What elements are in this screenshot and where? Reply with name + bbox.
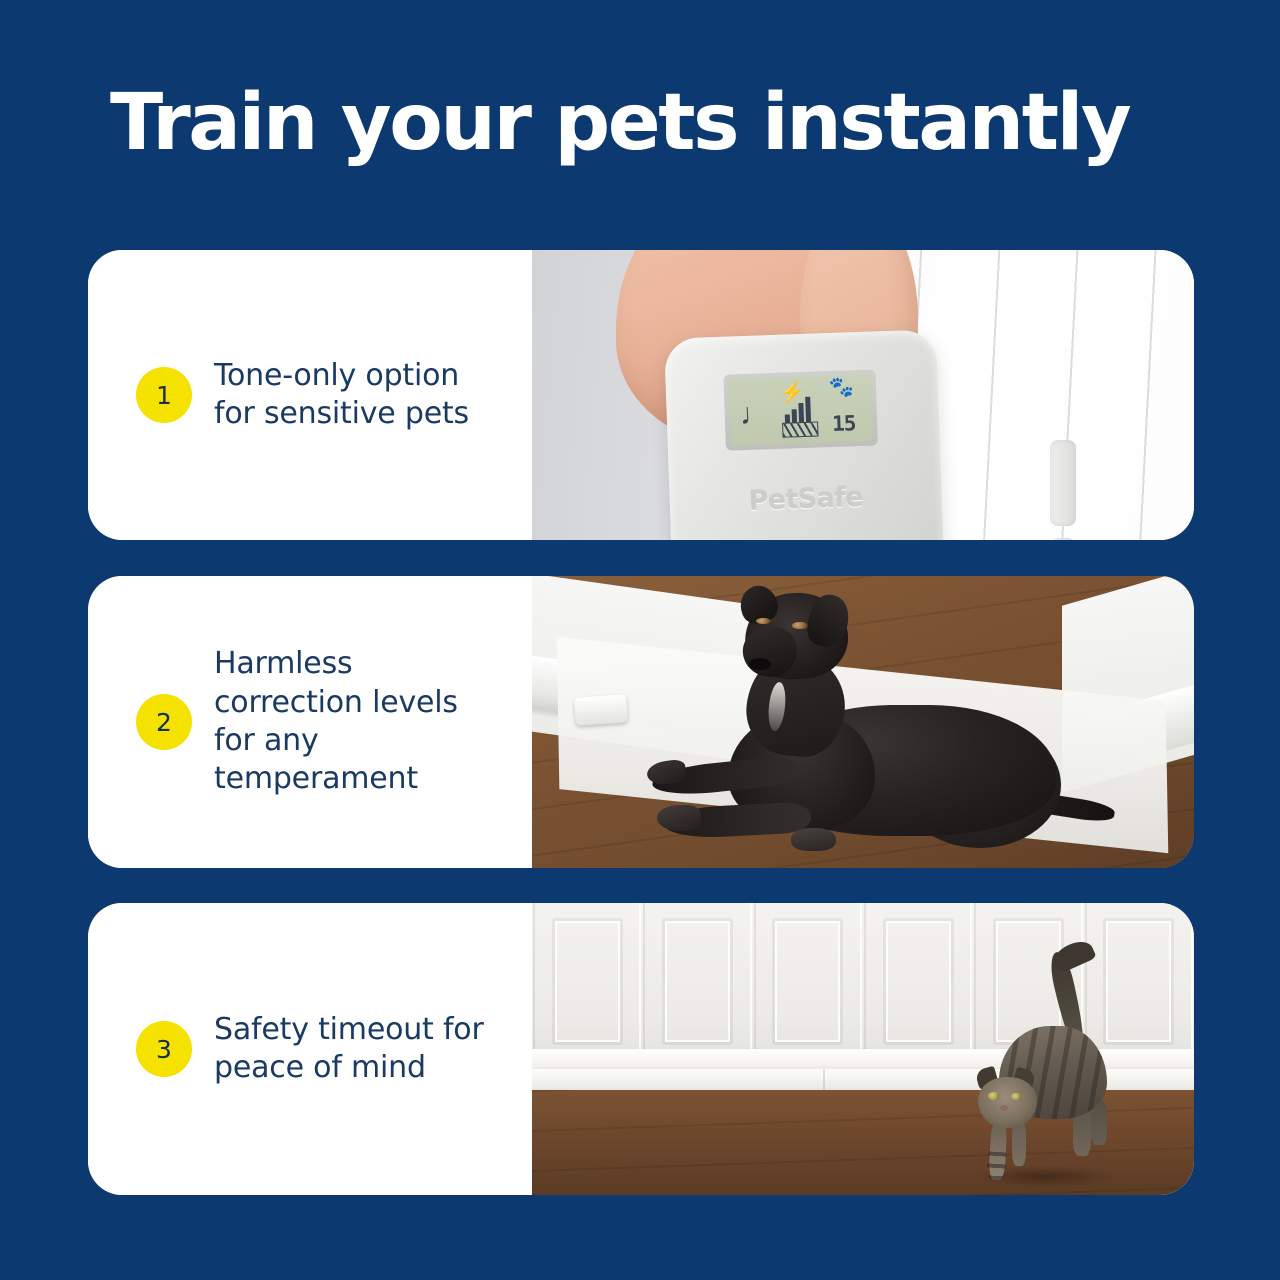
feature-photo-1: ♩ ⚡ 🐾 15 PetSaf <box>532 250 1194 540</box>
cabinet-panel <box>533 903 641 1058</box>
music-note-icon: ♩ <box>739 399 770 430</box>
feature-text-block-2: 2 Harmless correction levels for any tem… <box>88 576 532 868</box>
brand-logo: PetSafe <box>669 479 942 519</box>
feature-title-2: Harmless correction levels for any tempe… <box>214 645 490 799</box>
step-badge-2: 2 <box>136 694 192 750</box>
remote-side-button-small <box>1052 538 1074 540</box>
dog-front-paw-lower <box>657 805 701 831</box>
static-correction-icon: ⚡ <box>777 382 821 437</box>
disabled-strike-icon <box>782 421 819 437</box>
feature-text-block-1: 1 Tone-only option for sensitive pets <box>88 250 532 540</box>
page-title: Train your pets instantly <box>110 84 1200 162</box>
lcd-bezel: ♩ ⚡ 🐾 15 <box>723 369 878 450</box>
feature-title-3: Safety timeout for peace of mind <box>214 1011 490 1088</box>
dog-nose <box>749 658 771 671</box>
level-bars-icon <box>784 397 811 424</box>
level-value: 15 <box>832 411 856 436</box>
step-badge-1: 1 <box>136 367 192 423</box>
cat-eye-left <box>988 1092 998 1099</box>
cat-head <box>978 1077 1037 1128</box>
paw-print-icon: 🐾 <box>829 377 855 398</box>
feature-text-block-3: 3 Safety timeout for peace of mind <box>88 903 532 1195</box>
cabinet-panel <box>643 903 751 1058</box>
dog-eye-right <box>792 622 807 629</box>
feature-title-1: Tone-only option for sensitive pets <box>214 357 490 434</box>
cabinet-panel <box>754 903 862 1058</box>
remote-transmitter: ♩ ⚡ 🐾 15 PetSaf <box>664 329 944 540</box>
promo-infographic: Train your pets instantly 1 Tone-only op… <box>0 0 1280 1280</box>
feature-photo-3 <box>532 903 1194 1195</box>
feature-photo-2 <box>532 576 1194 868</box>
remote-side-button <box>1050 440 1076 526</box>
cat-nose <box>1000 1105 1007 1111</box>
floor-transmitter-device <box>574 694 628 726</box>
step-badge-3: 3 <box>136 1021 192 1077</box>
feature-card-3: 3 Safety timeout for peace of mind <box>88 903 1194 1195</box>
feature-card-1: 1 Tone-only option for sensitive pets ♩ … <box>88 250 1194 540</box>
cat <box>949 956 1174 1190</box>
feature-card-2: 2 Harmless correction levels for any tem… <box>88 576 1194 868</box>
dog-back-paw <box>791 828 835 851</box>
lcd-screen: ♩ ⚡ 🐾 15 <box>729 375 873 446</box>
dog <box>645 579 1135 865</box>
pet-level-group: 🐾 15 <box>827 379 863 438</box>
